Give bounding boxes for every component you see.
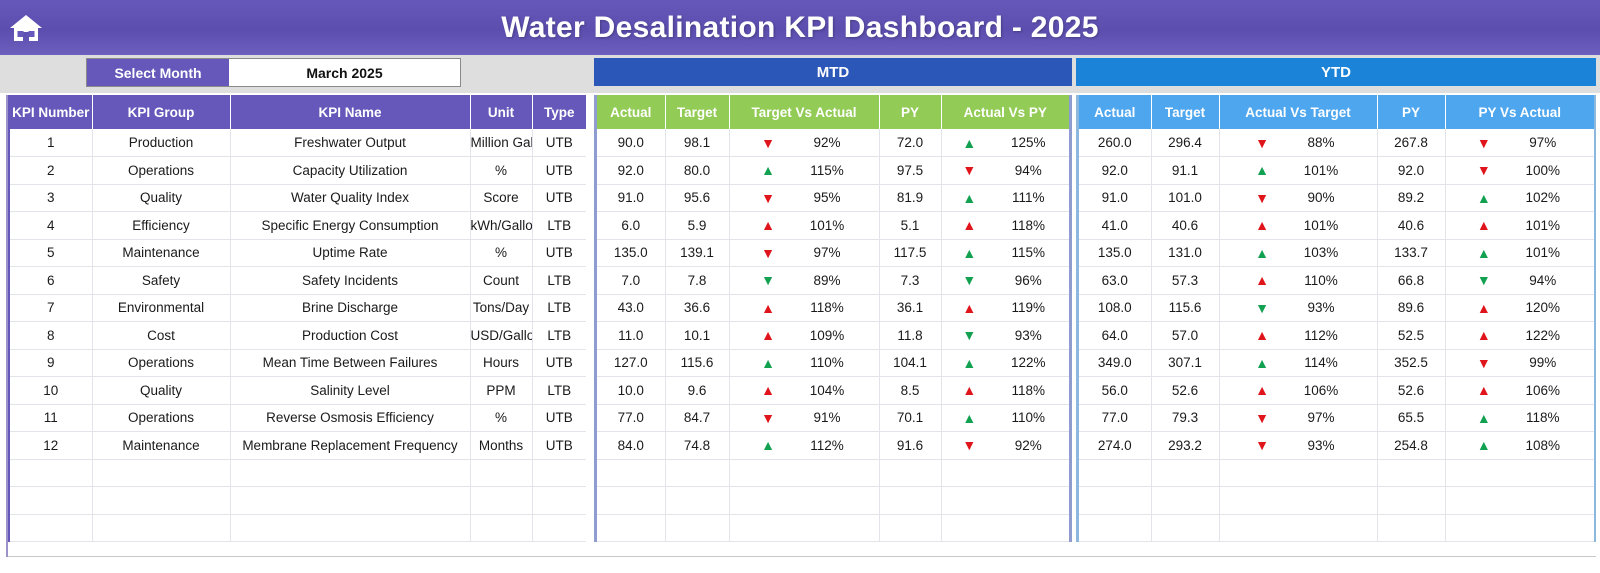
percent-value: 99%: [1507, 355, 1579, 370]
ytd-actual-cell: 260.0: [1079, 129, 1151, 157]
kpi-unit-cell: %: [470, 404, 532, 432]
percent-value: 91%: [791, 410, 863, 425]
trend-up-icon: [1239, 218, 1285, 232]
ytd-actual-cell: 274.0: [1079, 432, 1151, 460]
ytd-actual-cell: 56.0: [1079, 377, 1151, 405]
empty-cell: [1079, 487, 1151, 515]
table-row[interactable]: 3QualityWater Quality IndexScoreUTB: [10, 184, 586, 212]
table-row[interactable]: 274.0293.293%254.8108%: [1079, 432, 1594, 460]
empty-row: [1079, 487, 1594, 515]
mtd-target-vs-actual-cell: 91%: [729, 404, 879, 432]
kpi-group-cell: Efficiency: [92, 212, 230, 240]
bottom-edge: [8, 556, 1596, 557]
table-row[interactable]: 63.057.3110%66.894%: [1079, 267, 1594, 295]
ytd-target-cell: 115.6: [1151, 294, 1219, 322]
ytd-actual-vs-target-cell: 93%: [1219, 294, 1377, 322]
trend-down-icon: [946, 328, 992, 342]
mtd-target-cell: 9.6: [665, 377, 729, 405]
percent-value: 88%: [1285, 135, 1357, 150]
percent-value: 97%: [1507, 135, 1579, 150]
mtd-actual-vs-py-cell: 92%: [941, 432, 1069, 460]
empty-cell: [1377, 514, 1445, 542]
kpi-col-header[interactable]: KPI Name: [230, 95, 470, 129]
ytd-py-cell: 65.5: [1377, 404, 1445, 432]
mtd-target-cell: 10.1: [665, 322, 729, 350]
ytd-py-vs-actual-cell: 100%: [1445, 157, 1594, 185]
mtd-target-vs-actual-cell: 118%: [729, 294, 879, 322]
mtd-target-cell: 139.1: [665, 239, 729, 267]
mtd-actual-cell: 135.0: [597, 239, 665, 267]
kpi-definition-panel: KPI NumberKPI GroupKPI NameUnitType 1Pro…: [8, 95, 586, 542]
mtd-actual-vs-py-cell: 125%: [941, 129, 1069, 157]
kpi-type-cell: UTB: [532, 404, 586, 432]
ytd-py-cell: 89.2: [1377, 184, 1445, 212]
ytd-target-cell: 293.2: [1151, 432, 1219, 460]
trend-up-icon: [946, 411, 992, 425]
empty-row: [10, 459, 586, 487]
percent-value: 110%: [1285, 273, 1357, 288]
kpi-name-cell: Capacity Utilization: [230, 157, 470, 185]
kpi-type-cell: LTB: [532, 322, 586, 350]
kpi-type-cell: LTB: [532, 267, 586, 295]
mtd-target-vs-actual-cell: 112%: [729, 432, 879, 460]
mtd-target-cell: 115.6: [665, 349, 729, 377]
trend-down-icon: [1239, 438, 1285, 452]
percent-value: 122%: [992, 355, 1064, 370]
kpi-type-cell: UTB: [532, 349, 586, 377]
kpi-type-cell: UTB: [532, 157, 586, 185]
empty-row: [597, 459, 1069, 487]
kpi-col-header[interactable]: KPI Group: [92, 95, 230, 129]
percent-value: 97%: [791, 245, 863, 260]
empty-cell: [1079, 459, 1151, 487]
empty-cell: [597, 459, 665, 487]
trend-up-icon: [1461, 328, 1507, 342]
empty-cell: [1445, 514, 1594, 542]
kpi-group-cell: Maintenance: [92, 239, 230, 267]
percent-value: 125%: [992, 135, 1064, 150]
table-row[interactable]: 10.09.6104%8.5118%: [597, 377, 1069, 405]
empty-cell: [665, 487, 729, 515]
ytd-actual-cell: 91.0: [1079, 184, 1151, 212]
kpi-name-cell: Water Quality Index: [230, 184, 470, 212]
ytd-actual-vs-target-cell: 93%: [1219, 432, 1377, 460]
mtd-table: ActualTargetTarget Vs ActualPYActual Vs …: [597, 95, 1069, 542]
trend-up-icon: [1461, 438, 1507, 452]
trend-down-icon: [745, 273, 791, 287]
table-row[interactable]: 11.010.1109%11.893%: [597, 322, 1069, 350]
ytd-actual-cell: 135.0: [1079, 239, 1151, 267]
percent-value: 108%: [1507, 438, 1579, 453]
mtd-actual-cell: 11.0: [597, 322, 665, 350]
table-row[interactable]: 135.0139.197%117.5115%: [597, 239, 1069, 267]
kpi-name-cell: Freshwater Output: [230, 129, 470, 157]
home-button[interactable]: [0, 0, 52, 55]
ytd-py-cell: 40.6: [1377, 212, 1445, 240]
mtd-actual-cell: 10.0: [597, 377, 665, 405]
empty-cell: [92, 459, 230, 487]
kpi-group-cell: Production: [92, 129, 230, 157]
mtd-py-cell: 81.9: [879, 184, 941, 212]
trend-up-icon: [745, 301, 791, 315]
mtd-py-cell: 8.5: [879, 377, 941, 405]
kpi-name-cell: Specific Energy Consumption: [230, 212, 470, 240]
percent-value: 122%: [1507, 328, 1579, 343]
table-row[interactable]: 77.079.397%65.5118%: [1079, 404, 1594, 432]
kpi-name-cell: Mean Time Between Failures: [230, 349, 470, 377]
ytd-actual-vs-target-cell: 114%: [1219, 349, 1377, 377]
mtd-target-cell: 74.8: [665, 432, 729, 460]
empty-cell: [92, 514, 230, 542]
table-row[interactable]: 6SafetySafety IncidentsCountLTB: [10, 267, 586, 295]
kpi-name-cell: Brine Discharge: [230, 294, 470, 322]
table-row[interactable]: 77.084.791%70.1110%: [597, 404, 1069, 432]
mtd-actual-vs-py-cell: 96%: [941, 267, 1069, 295]
mtd-col-header[interactable]: PY: [879, 95, 941, 129]
percent-value: 102%: [1507, 190, 1579, 205]
month-selector[interactable]: Select Month March 2025: [86, 58, 461, 87]
empty-cell: [729, 459, 879, 487]
trend-down-icon: [946, 438, 992, 452]
mtd-target-vs-actual-cell: 115%: [729, 157, 879, 185]
ytd-py-cell: 52.6: [1377, 377, 1445, 405]
trend-down-icon: [745, 246, 791, 260]
trend-down-icon: [1461, 136, 1507, 150]
empty-cell: [230, 459, 470, 487]
empty-cell: [1219, 514, 1377, 542]
percent-value: 90%: [1285, 190, 1357, 205]
mtd-py-cell: 91.6: [879, 432, 941, 460]
table-row[interactable]: 90.098.192%72.0125%: [597, 129, 1069, 157]
kpi-group-cell: Operations: [92, 157, 230, 185]
table-row[interactable]: 5MaintenanceUptime Rate%UTB: [10, 239, 586, 267]
trend-down-icon: [745, 191, 791, 205]
mtd-actual-vs-py-cell: 118%: [941, 212, 1069, 240]
percent-value: 101%: [1285, 218, 1357, 233]
mtd-col-header[interactable]: Target: [665, 95, 729, 129]
kpi-definition-table: KPI NumberKPI GroupKPI NameUnitType 1Pro…: [10, 95, 586, 542]
ytd-actual-vs-target-cell: 101%: [1219, 157, 1377, 185]
mtd-py-cell: 7.3: [879, 267, 941, 295]
percent-value: 92%: [992, 438, 1064, 453]
ytd-target-cell: 296.4: [1151, 129, 1219, 157]
ytd-col-header[interactable]: PY Vs Actual: [1445, 95, 1594, 129]
mtd-py-cell: 72.0: [879, 129, 941, 157]
ytd-py-cell: 133.7: [1377, 239, 1445, 267]
kpi-number-cell: 11: [10, 404, 92, 432]
table-row[interactable]: 12MaintenanceMembrane Replacement Freque…: [10, 432, 586, 460]
ytd-actual-vs-target-cell: 112%: [1219, 322, 1377, 350]
percent-value: 101%: [1285, 163, 1357, 178]
mtd-panel: ActualTargetTarget Vs ActualPYActual Vs …: [594, 95, 1072, 542]
table-row[interactable]: 10QualitySalinity LevelPPMLTB: [10, 377, 586, 405]
mtd-actual-vs-py-cell: 94%: [941, 157, 1069, 185]
empty-cell: [1445, 459, 1594, 487]
kpi-number-cell: 3: [10, 184, 92, 212]
table-row[interactable]: 43.036.6118%36.1119%: [597, 294, 1069, 322]
percent-value: 120%: [1507, 300, 1579, 315]
ytd-col-header[interactable]: PY: [1377, 95, 1445, 129]
trend-up-icon: [946, 246, 992, 260]
ytd-actual-cell: 92.0: [1079, 157, 1151, 185]
month-selector-label: Select Month: [87, 59, 229, 86]
kpi-number-cell: 5: [10, 239, 92, 267]
percent-value: 96%: [992, 273, 1064, 288]
empty-cell: [1151, 487, 1219, 515]
month-selector-value[interactable]: March 2025: [229, 59, 460, 86]
mtd-actual-vs-py-cell: 111%: [941, 184, 1069, 212]
ytd-target-cell: 57.3: [1151, 267, 1219, 295]
table-row[interactable]: 11OperationsReverse Osmosis Efficiency%U…: [10, 404, 586, 432]
mtd-target-vs-actual-cell: 89%: [729, 267, 879, 295]
empty-cell: [532, 459, 586, 487]
ytd-actual-vs-target-cell: 90%: [1219, 184, 1377, 212]
mtd-actual-cell: 6.0: [597, 212, 665, 240]
table-row[interactable]: 64.057.0112%52.5122%: [1079, 322, 1594, 350]
kpi-col-header[interactable]: Type: [532, 95, 586, 129]
trend-up-icon: [745, 356, 791, 370]
empty-row: [597, 514, 1069, 542]
empty-cell: [1219, 459, 1377, 487]
mtd-actual-cell: 84.0: [597, 432, 665, 460]
mtd-target-vs-actual-cell: 101%: [729, 212, 879, 240]
percent-value: 118%: [1507, 410, 1579, 425]
table-row[interactable]: 8CostProduction CostUSD/GallonLTB: [10, 322, 586, 350]
mtd-py-cell: 117.5: [879, 239, 941, 267]
kpi-number-cell: 8: [10, 322, 92, 350]
table-row[interactable]: 9OperationsMean Time Between FailuresHou…: [10, 349, 586, 377]
percent-value: 100%: [1507, 163, 1579, 178]
empty-cell: [1151, 514, 1219, 542]
empty-cell: [597, 487, 665, 515]
ytd-py-vs-actual-cell: 99%: [1445, 349, 1594, 377]
table-row[interactable]: 1ProductionFreshwater OutputMillion Gall…: [10, 129, 586, 157]
percent-value: 104%: [791, 383, 863, 398]
kpi-number-cell: 9: [10, 349, 92, 377]
ytd-table: ActualTargetActual Vs TargetPYPY Vs Actu…: [1079, 95, 1594, 542]
empty-cell: [470, 514, 532, 542]
kpi-col-header[interactable]: KPI Number: [10, 95, 92, 129]
empty-cell: [10, 514, 92, 542]
mtd-actual-vs-py-cell: 115%: [941, 239, 1069, 267]
mtd-section-header: MTD: [594, 58, 1072, 86]
trend-up-icon: [1239, 246, 1285, 260]
trend-up-icon: [1461, 218, 1507, 232]
ytd-col-header[interactable]: Target: [1151, 95, 1219, 129]
ytd-col-header[interactable]: Actual Vs Target: [1219, 95, 1377, 129]
mtd-col-header[interactable]: Actual: [597, 95, 665, 129]
table-row[interactable]: 6.05.9101%5.1118%: [597, 212, 1069, 240]
kpi-group-cell: Safety: [92, 267, 230, 295]
ytd-py-vs-actual-cell: 102%: [1445, 184, 1594, 212]
empty-cell: [230, 487, 470, 515]
kpi-number-cell: 6: [10, 267, 92, 295]
table-row[interactable]: 4EfficiencySpecific Energy ConsumptionkW…: [10, 212, 586, 240]
table-row[interactable]: 7EnvironmentalBrine DischargeTons/DayLTB: [10, 294, 586, 322]
ytd-actual-cell: 77.0: [1079, 404, 1151, 432]
table-row[interactable]: 92.091.1101%92.0100%: [1079, 157, 1594, 185]
ytd-py-vs-actual-cell: 97%: [1445, 129, 1594, 157]
kpi-unit-cell: Million Gallons/Day: [470, 129, 532, 157]
kpi-unit-cell: USD/Gallon: [470, 322, 532, 350]
table-row[interactable]: 92.080.0115%97.594%: [597, 157, 1069, 185]
kpi-unit-cell: Months: [470, 432, 532, 460]
ytd-target-cell: 52.6: [1151, 377, 1219, 405]
mtd-target-cell: 7.8: [665, 267, 729, 295]
ytd-target-cell: 91.1: [1151, 157, 1219, 185]
percent-value: 114%: [1285, 355, 1357, 370]
mtd-py-cell: 5.1: [879, 212, 941, 240]
trend-down-icon: [745, 136, 791, 150]
table-row[interactable]: 2OperationsCapacity Utilization%UTB: [10, 157, 586, 185]
ytd-actual-vs-target-cell: 110%: [1219, 267, 1377, 295]
trend-up-icon: [1461, 383, 1507, 397]
percent-value: 93%: [1285, 438, 1357, 453]
table-row[interactable]: 91.0101.090%89.2102%: [1079, 184, 1594, 212]
empty-cell: [1219, 487, 1377, 515]
table-row[interactable]: 91.095.695%81.9111%: [597, 184, 1069, 212]
trend-down-icon: [1239, 191, 1285, 205]
empty-cell: [941, 487, 1069, 515]
mtd-actual-cell: 43.0: [597, 294, 665, 322]
empty-cell: [470, 459, 532, 487]
mtd-py-cell: 70.1: [879, 404, 941, 432]
ytd-actual-vs-target-cell: 88%: [1219, 129, 1377, 157]
empty-cell: [1079, 514, 1151, 542]
ytd-target-cell: 79.3: [1151, 404, 1219, 432]
percent-value: 106%: [1285, 383, 1357, 398]
mtd-col-header[interactable]: Target Vs Actual: [729, 95, 879, 129]
ytd-py-cell: 52.5: [1377, 322, 1445, 350]
percent-value: 110%: [992, 410, 1064, 425]
kpi-name-cell: Uptime Rate: [230, 239, 470, 267]
empty-cell: [1151, 459, 1219, 487]
table-row[interactable]: 7.07.889%7.396%: [597, 267, 1069, 295]
mtd-actual-cell: 127.0: [597, 349, 665, 377]
kpi-unit-cell: PPM: [470, 377, 532, 405]
kpi-name-cell: Reverse Osmosis Efficiency: [230, 404, 470, 432]
ytd-actual-cell: 64.0: [1079, 322, 1151, 350]
empty-cell: [665, 514, 729, 542]
trend-down-icon: [1461, 273, 1507, 287]
table-row[interactable]: 84.074.8112%91.692%: [597, 432, 1069, 460]
ytd-py-cell: 89.6: [1377, 294, 1445, 322]
ytd-section-header: YTD: [1076, 58, 1596, 86]
kpi-unit-cell: Count: [470, 267, 532, 295]
kpi-unit-cell: %: [470, 157, 532, 185]
kpi-col-header[interactable]: Unit: [470, 95, 532, 129]
ytd-actual-vs-target-cell: 106%: [1219, 377, 1377, 405]
empty-row: [1079, 514, 1594, 542]
trend-down-icon: [745, 411, 791, 425]
empty-row: [1079, 459, 1594, 487]
empty-cell: [879, 514, 941, 542]
empty-cell: [92, 487, 230, 515]
kpi-group-cell: Environmental: [92, 294, 230, 322]
mtd-actual-vs-py-cell: 110%: [941, 404, 1069, 432]
mtd-target-vs-actual-cell: 92%: [729, 129, 879, 157]
page-title: Water Desalination KPI Dashboard - 2025: [52, 11, 1600, 45]
table-header-row: ActualTargetActual Vs TargetPYPY Vs Actu…: [1079, 95, 1594, 129]
mtd-actual-cell: 90.0: [597, 129, 665, 157]
table-row[interactable]: 127.0115.6110%104.1122%: [597, 349, 1069, 377]
table-row[interactable]: 108.0115.693%89.6120%: [1079, 294, 1594, 322]
mtd-actual-vs-py-cell: 118%: [941, 377, 1069, 405]
mtd-actual-cell: 92.0: [597, 157, 665, 185]
mtd-col-header[interactable]: Actual Vs PY: [941, 95, 1069, 129]
ytd-actual-cell: 349.0: [1079, 349, 1151, 377]
ytd-py-cell: 92.0: [1377, 157, 1445, 185]
kpi-name-cell: Production Cost: [230, 322, 470, 350]
ytd-actual-cell: 63.0: [1079, 267, 1151, 295]
trend-down-icon: [946, 163, 992, 177]
trend-up-icon: [946, 136, 992, 150]
trend-down-icon: [1461, 163, 1507, 177]
mtd-target-cell: 80.0: [665, 157, 729, 185]
mtd-py-cell: 104.1: [879, 349, 941, 377]
table-row[interactable]: 260.0296.488%267.897%: [1079, 129, 1594, 157]
percent-value: 93%: [992, 328, 1064, 343]
table-row[interactable]: 56.052.6106%52.6106%: [1079, 377, 1594, 405]
trend-down-icon: [946, 273, 992, 287]
kpi-group-cell: Operations: [92, 349, 230, 377]
empty-row: [10, 487, 586, 515]
trend-up-icon: [1239, 273, 1285, 287]
ytd-py-vs-actual-cell: 106%: [1445, 377, 1594, 405]
percent-value: 115%: [992, 245, 1064, 260]
table-row[interactable]: 349.0307.1114%352.599%: [1079, 349, 1594, 377]
ytd-target-cell: 40.6: [1151, 212, 1219, 240]
ytd-py-cell: 352.5: [1377, 349, 1445, 377]
table-row[interactable]: 135.0131.0103%133.7101%: [1079, 239, 1594, 267]
percent-value: 89%: [791, 273, 863, 288]
empty-cell: [1377, 459, 1445, 487]
mtd-py-cell: 11.8: [879, 322, 941, 350]
mtd-actual-cell: 91.0: [597, 184, 665, 212]
ytd-col-header[interactable]: Actual: [1079, 95, 1151, 129]
trend-up-icon: [1239, 383, 1285, 397]
kpi-unit-cell: Score: [470, 184, 532, 212]
ytd-py-vs-actual-cell: 122%: [1445, 322, 1594, 350]
mtd-target-cell: 98.1: [665, 129, 729, 157]
kpi-number-cell: 12: [10, 432, 92, 460]
kpi-number-cell: 1: [10, 129, 92, 157]
trend-down-icon: [1239, 301, 1285, 315]
kpi-unit-cell: %: [470, 239, 532, 267]
empty-cell: [10, 487, 92, 515]
mtd-actual-cell: 7.0: [597, 267, 665, 295]
ytd-py-vs-actual-cell: 120%: [1445, 294, 1594, 322]
kpi-unit-cell: Tons/Day: [470, 294, 532, 322]
ytd-actual-cell: 41.0: [1079, 212, 1151, 240]
empty-row: [10, 514, 586, 542]
table-row[interactable]: 41.040.6101%40.6101%: [1079, 212, 1594, 240]
percent-value: 95%: [791, 190, 863, 205]
kpi-unit-cell: Hours: [470, 349, 532, 377]
percent-value: 112%: [1285, 328, 1357, 343]
empty-cell: [230, 514, 470, 542]
mtd-actual-vs-py-cell: 119%: [941, 294, 1069, 322]
percent-value: 118%: [992, 383, 1064, 398]
ytd-py-vs-actual-cell: 94%: [1445, 267, 1594, 295]
mtd-actual-cell: 77.0: [597, 404, 665, 432]
trend-up-icon: [946, 191, 992, 205]
ytd-py-vs-actual-cell: 101%: [1445, 239, 1594, 267]
trend-down-icon: [1239, 411, 1285, 425]
percent-value: 110%: [791, 355, 863, 370]
percent-value: 101%: [791, 218, 863, 233]
empty-cell: [532, 487, 586, 515]
